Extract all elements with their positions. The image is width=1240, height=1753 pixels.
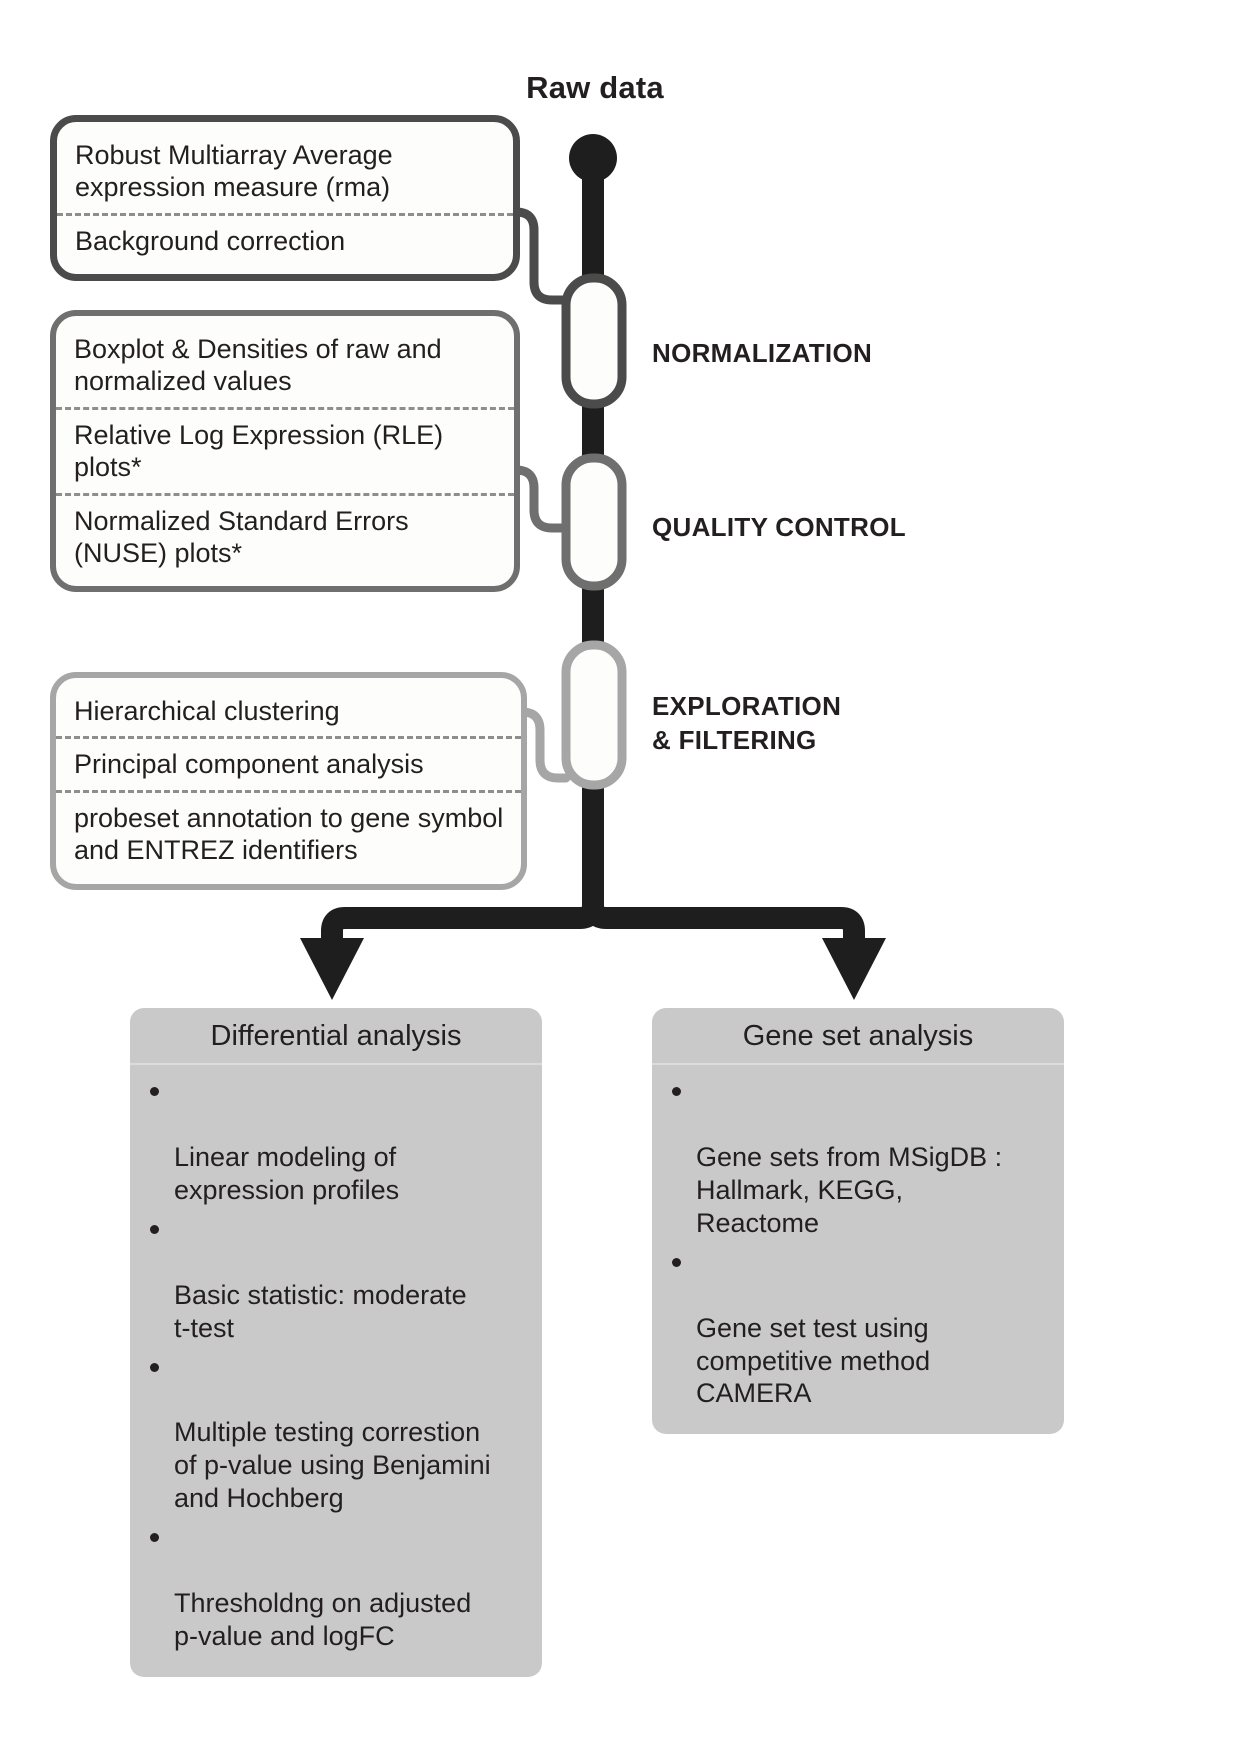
gene-set-analysis-title: Gene set analysis [652,1008,1064,1065]
gene-set-analysis-card: Gene set analysis Gene sets from MSigDB … [652,1008,1064,1434]
list-item-label: Linear modeling of expression profiles [174,1142,399,1205]
stage-node-normalization [516,212,622,404]
list-item-label: Thresholdng on adjusted p-value and logF… [174,1588,471,1651]
exploration-step-3: probeset annotation to gene symbol and E… [56,790,521,876]
list-item: Gene set test using competitive method C… [670,1246,1050,1411]
exploration-step-2: Principal component analysis [56,736,521,789]
list-item-label: Multiple testing correstion of p-value u… [174,1417,491,1513]
spine-branch-split [300,880,886,1000]
stage-node-quality-control [516,458,622,586]
exploration-detail-box: Hierarchical clustering Principal compon… [50,672,527,890]
bullet-icon [150,1087,159,1096]
flowchart-canvas: Raw data [0,0,1240,1753]
list-item-label: Basic statistic: moderate t-test [174,1280,467,1343]
list-item-label: Gene set test using competitive method C… [696,1313,930,1409]
differential-analysis-list: Linear modeling of expression profiles B… [130,1065,542,1677]
quality-control-step-3: Normalized Standard Errors (NUSE) plots* [56,493,514,579]
normalization-detail-box: Robust Multiarray Average expression mea… [50,115,520,281]
bullet-icon [672,1087,681,1096]
list-item-label: Gene sets from MSigDB : Hallmark, KEGG, … [696,1142,1002,1238]
stage-node-exploration [522,645,622,785]
normalization-step-2: Background correction [57,213,513,266]
list-item: Multiple testing correstion of p-value u… [148,1351,528,1516]
quality-control-step-1: Boxplot & Densities of raw and normalize… [56,324,514,407]
page-title: Raw data [430,70,760,106]
stage-label-quality-control: QUALITY CONTROL [652,511,906,545]
stage-label-exploration-filtering: EXPLORATION & FILTERING [652,690,841,758]
exploration-step-1: Hierarchical clustering [56,686,521,736]
differential-analysis-title: Differential analysis [130,1008,542,1065]
normalization-step-1: Robust Multiarray Average expression mea… [57,130,513,213]
list-item: Linear modeling of expression profiles [148,1075,528,1207]
differential-analysis-card: Differential analysis Linear modeling of… [130,1008,542,1677]
list-item: Gene sets from MSigDB : Hallmark, KEGG, … [670,1075,1050,1240]
bullet-icon [150,1225,159,1234]
gene-set-analysis-list: Gene sets from MSigDB : Hallmark, KEGG, … [652,1065,1064,1434]
quality-control-detail-box: Boxplot & Densities of raw and normalize… [50,310,520,592]
spine-main-line [569,134,617,905]
bullet-icon [150,1363,159,1372]
list-item: Thresholdng on adjusted p-value and logF… [148,1521,528,1653]
stage-label-normalization: NORMALIZATION [652,337,872,371]
bullet-icon [150,1533,159,1542]
bullet-icon [672,1258,681,1267]
list-item: Basic statistic: moderate t-test [148,1213,528,1345]
quality-control-step-2: Relative Log Expression (RLE) plots* [56,407,514,493]
